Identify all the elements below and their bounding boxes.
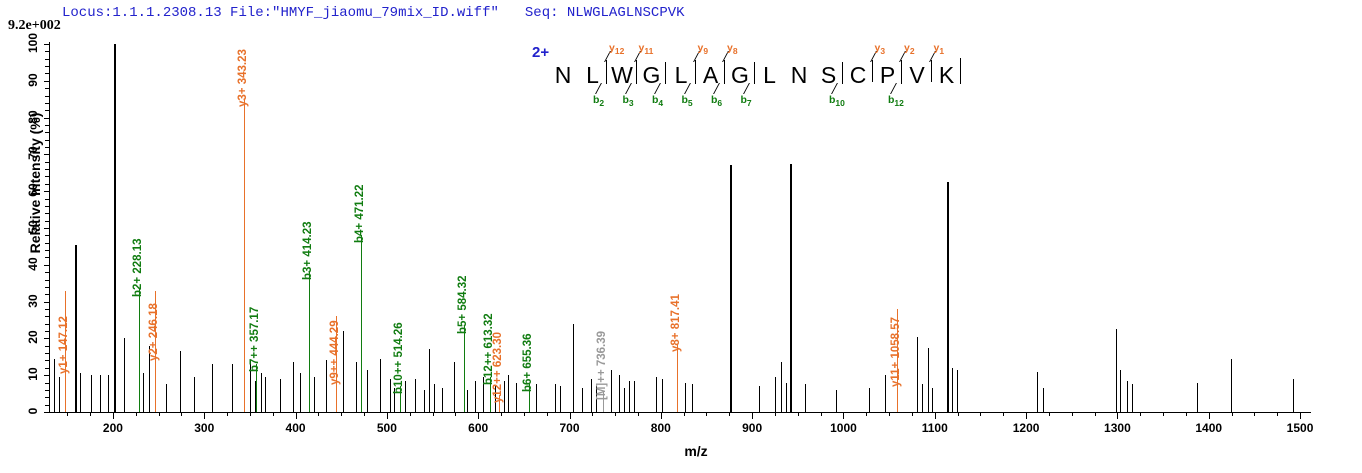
peptide-residue: C xyxy=(845,62,871,89)
y-ion-label: y1 xyxy=(934,42,945,56)
spectrum-peak xyxy=(380,359,381,412)
spectrum-peak xyxy=(212,364,213,412)
b-ion-label: b2 xyxy=(593,94,604,108)
b-ion-cleavage-tick xyxy=(842,62,843,84)
spectrum-peak xyxy=(922,384,923,412)
b-ion-index: 12 xyxy=(894,98,903,108)
spectrum-peak xyxy=(75,245,77,412)
spectrum-peak xyxy=(790,164,792,412)
spectrum-peak xyxy=(124,338,125,412)
y-ion-label: y2 xyxy=(904,42,915,56)
y-ion-index: 3 xyxy=(880,46,885,56)
spectrum-peak xyxy=(932,388,933,412)
fragment-ion-label: b10++ 514.26 xyxy=(393,323,405,395)
y-ion-label: y9 xyxy=(698,42,709,56)
peptide-fragmentation-diagram: 2+ NLWGLAGLNSCPVKy12y11y9y8y3y2y1b2b3b4b… xyxy=(530,42,960,112)
spectrum-peak xyxy=(367,370,368,412)
spectrum-peak xyxy=(928,348,929,412)
fragment-ion-label: b2+ 228.13 xyxy=(132,238,144,297)
spectrum-peak xyxy=(1043,388,1044,412)
y-ion-cleavage-tick xyxy=(931,60,932,82)
b-ion-label: b12 xyxy=(888,94,904,108)
peptide-residue: V xyxy=(904,62,930,89)
spectrum-peak xyxy=(582,388,583,412)
fragment-ion-label: y9++ 444.29 xyxy=(329,320,341,385)
peptide-residue: K xyxy=(934,62,960,89)
b-ion-cleavage-tick xyxy=(724,62,725,84)
spectrum-peak xyxy=(1116,329,1117,412)
spectrum-peak xyxy=(390,379,391,412)
y-ion-label: y11 xyxy=(639,42,654,56)
fragment-ion-label: b5+ 584.32 xyxy=(457,275,469,334)
y-ion-label: y12 xyxy=(609,42,624,56)
fragment-ion-label: y3+ 343.23 xyxy=(237,49,249,107)
spectrum-peak xyxy=(429,349,430,412)
b-ion-index: 2 xyxy=(599,98,604,108)
spectrum-peak xyxy=(415,379,416,412)
spectrum-peak xyxy=(805,384,806,412)
y-ion-label: y3 xyxy=(875,42,886,56)
spectrum-peak xyxy=(619,375,620,412)
peptide-residue: N xyxy=(550,62,576,89)
spectrum-peak xyxy=(280,379,281,412)
spectrum-viewer: Locus:1.1.1.2308.13 File:"HMYF_jiaomu_79… xyxy=(0,0,1362,473)
peptide-residue: N xyxy=(786,62,812,89)
spectrum-peak xyxy=(624,388,625,412)
spectrum-peak xyxy=(611,370,612,412)
b-ion-cleavage-tick xyxy=(665,62,666,84)
b-ion-cleavage-tick xyxy=(695,62,696,84)
b-ion-label: b4 xyxy=(652,94,663,108)
b-ion-index: 7 xyxy=(747,98,752,108)
spectrum-peak xyxy=(467,390,468,412)
spectrum-peak xyxy=(952,368,953,412)
fragment-ion-extension xyxy=(65,291,66,412)
spectrum-peak xyxy=(405,381,406,412)
spectrum-peak xyxy=(662,379,663,412)
fragment-ion-label: b7++ 357.17 xyxy=(249,307,261,372)
b-ion-label: b5 xyxy=(682,94,693,108)
spectrum-peak xyxy=(781,362,782,412)
spectrum-peak xyxy=(434,384,435,412)
b-ion-label: b3 xyxy=(623,94,634,108)
fragment-ion-label: [M]++ 736.39 xyxy=(596,331,608,400)
spectrum-peak xyxy=(508,375,509,412)
spectrum-peak xyxy=(54,359,55,412)
spectrum-peak xyxy=(1231,359,1232,412)
y-ion-cleavage-tick xyxy=(872,60,873,82)
spectrum-peak xyxy=(917,337,918,412)
fragment-ion-label: b3+ 414.23 xyxy=(302,222,314,281)
y-ion-index: 12 xyxy=(615,46,624,56)
b-ion-label: b7 xyxy=(741,94,752,108)
spectrum-peak xyxy=(442,388,443,412)
spectrum-peak xyxy=(634,381,635,412)
spectrum-peak xyxy=(885,375,886,412)
c-terminus-bar xyxy=(960,58,961,84)
fragment-ion-guide xyxy=(464,326,465,412)
b-ion-index: 4 xyxy=(658,98,663,108)
fragment-ion-guide xyxy=(677,344,678,412)
b-ion-cleavage-tick xyxy=(754,62,755,84)
b-ion-index: 6 xyxy=(717,98,722,108)
spectrum-peak xyxy=(692,384,693,412)
y-ion-index: 11 xyxy=(644,46,653,56)
spectrum-peak xyxy=(957,370,958,412)
fragment-ion-guide xyxy=(139,289,140,412)
spectrum-peak xyxy=(786,383,787,412)
fragment-ion-extension xyxy=(897,309,898,412)
spectrum-peak xyxy=(685,383,686,412)
spectrum-peak xyxy=(516,383,517,412)
spectrum-peak xyxy=(261,373,262,412)
b-ion-cleavage-tick xyxy=(636,62,637,84)
spectrum-peak xyxy=(573,324,574,412)
spectrum-peak xyxy=(656,377,657,412)
b-ion-cleavage-tick xyxy=(606,62,607,84)
fragment-ion-extension xyxy=(336,316,337,412)
spectrum-peak xyxy=(265,377,266,412)
spectrum-peak xyxy=(80,373,81,412)
precursor-charge-badge: 2+ xyxy=(532,44,549,61)
spectrum-peak xyxy=(143,373,144,412)
fragment-ion-label: y11+ 1058.57 xyxy=(890,317,902,387)
spectrum-peak xyxy=(166,384,167,412)
spectrum-peak xyxy=(100,375,101,412)
spectrum-peak xyxy=(947,182,949,412)
spectrum-peak xyxy=(343,331,344,412)
fragment-ion-label: b4+ 471.22 xyxy=(354,185,366,244)
b-ion-index: 5 xyxy=(688,98,693,108)
y-ion-index: 2 xyxy=(910,46,915,56)
spectrum-peak xyxy=(424,390,425,412)
y-ion-label: y8 xyxy=(727,42,738,56)
b-ion-index: 3 xyxy=(629,98,634,108)
spectrum-peak xyxy=(1127,381,1128,412)
spectrum-peak xyxy=(1197,383,1198,412)
b-ion-label: b6 xyxy=(711,94,722,108)
fragment-ion-guide xyxy=(309,272,310,412)
b-ion-cleavage-tick xyxy=(901,62,902,84)
spectrum-peak xyxy=(504,381,505,412)
fragment-ion-extension xyxy=(155,291,156,412)
fragment-ion-label: y12++ 623.30 xyxy=(492,332,504,403)
spectrum-peak xyxy=(836,390,837,412)
spectrum-peak xyxy=(536,384,537,412)
spectrum-peak xyxy=(180,351,181,412)
spectrum-peak xyxy=(869,388,870,412)
spectrum-peak xyxy=(59,377,60,412)
y-ion-index: 9 xyxy=(703,46,708,56)
spectrum-peak xyxy=(194,377,195,412)
spectrum-peak xyxy=(108,375,109,412)
spectrum-peak xyxy=(300,373,301,412)
fragment-ion-label: y1+ 147.12 xyxy=(58,316,70,374)
spectrum-peak xyxy=(759,386,760,412)
y-ion-index: 1 xyxy=(939,46,944,56)
spectrum-peak xyxy=(560,386,561,412)
spectrum-peak xyxy=(356,362,357,412)
spectrum-peak xyxy=(591,379,592,412)
spectrum-peak xyxy=(1120,370,1121,412)
y-ion-index: 8 xyxy=(733,46,738,56)
spectrum-peak xyxy=(1293,379,1294,412)
spectrum-peak xyxy=(555,384,556,412)
spectrum-peak xyxy=(293,362,294,412)
spectrum-peak xyxy=(114,44,116,412)
spectrum-peak xyxy=(629,381,630,412)
spectrum-peak xyxy=(730,165,732,412)
spectrum-peak xyxy=(326,360,327,412)
spectrum-peak xyxy=(454,362,455,412)
fragment-ion-guide xyxy=(244,99,245,412)
spectrum-peak xyxy=(314,377,315,412)
spectrum-peak xyxy=(775,377,776,412)
fragment-ion-label: y8+ 817.41 xyxy=(670,294,682,352)
spectrum-peak xyxy=(91,375,92,412)
spectrum-peak xyxy=(1037,372,1038,412)
fragment-ion-label: y2+ 246.18 xyxy=(148,303,160,361)
fragment-ion-guide xyxy=(361,235,362,412)
spectrum-peak xyxy=(232,364,233,412)
spectrum-peak xyxy=(475,381,476,412)
b-ion-index: 10 xyxy=(835,98,844,108)
peptide-residue: L xyxy=(757,62,783,89)
b-ion-label: b10 xyxy=(829,94,845,108)
spectrum-peak xyxy=(1132,384,1133,412)
fragment-ion-label: b6+ 655.36 xyxy=(522,334,534,393)
